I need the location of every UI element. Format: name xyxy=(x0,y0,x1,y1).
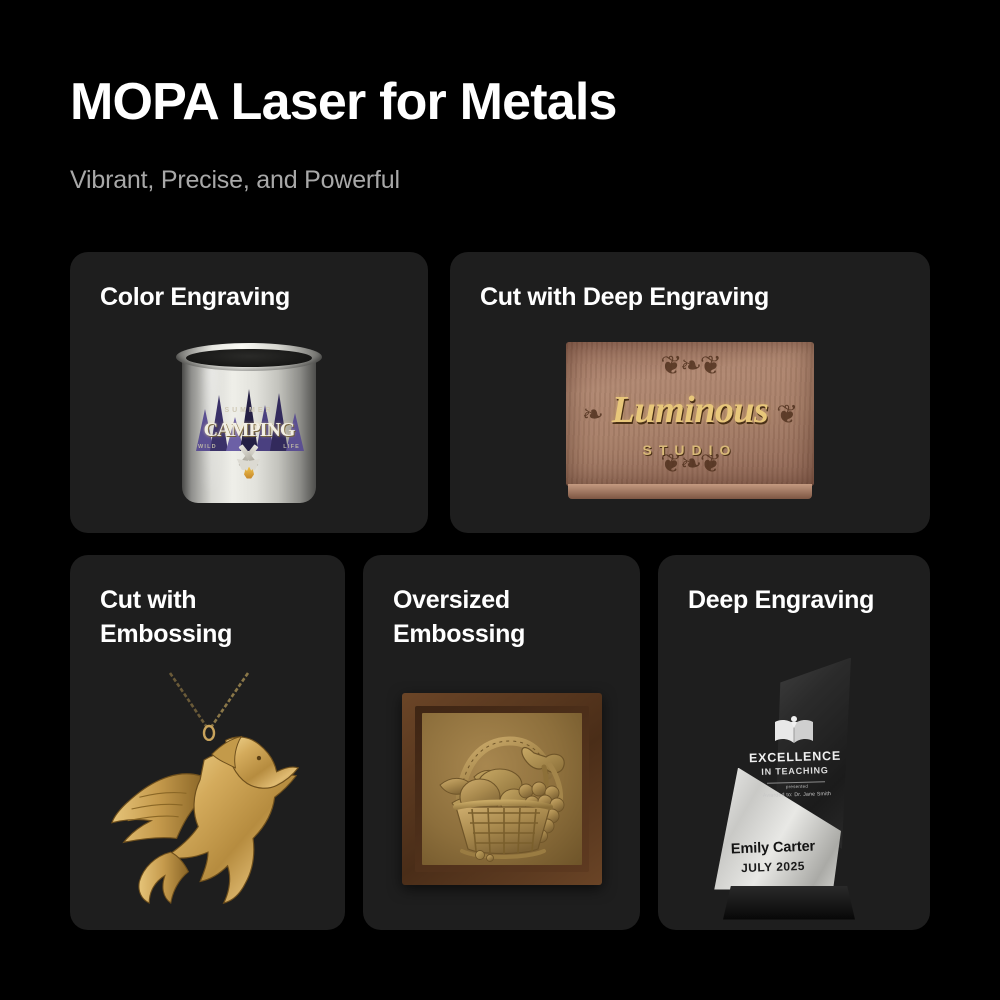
fruit-basket-icon xyxy=(422,713,582,865)
mug-graphic: SUMMER CAMPING WILD LIFE xyxy=(174,337,324,507)
plaque-label-luminous: Luminous xyxy=(574,388,806,432)
product-image-plaque: ❦❧❦ ❦❧❦ ❧ ❦ Luminous STUDIO xyxy=(450,310,930,533)
mug-engraving: SUMMER CAMPING WILD LIFE xyxy=(194,381,304,477)
product-image-pendant xyxy=(70,647,345,930)
wood-plaque-graphic: ❦❧❦ ❦❧❦ ❧ ❦ Luminous STUDIO xyxy=(566,342,814,502)
card-title: Cut with Deep Engraving xyxy=(480,280,769,314)
product-image-mug: SUMMER CAMPING WILD LIFE xyxy=(70,310,428,533)
winged-horse-icon xyxy=(108,711,308,907)
plaque-bevel-edge xyxy=(568,484,812,499)
card-cut-with-deep-engraving[interactable]: Cut with Deep Engraving ❦❧❦ ❦❧❦ ❧ ❦ Lumi… xyxy=(450,252,930,533)
trophy-line-excellence: EXCELLENCE xyxy=(727,748,863,766)
plaque-engraving: ❦❧❦ ❦❧❦ ❧ ❦ Luminous STUDIO xyxy=(574,350,806,478)
card-cut-with-embossing[interactable]: Cut with Embossing xyxy=(70,555,345,930)
mug-label-summer: SUMMER xyxy=(194,407,304,414)
card-oversized-embossing[interactable]: Oversized Embossing xyxy=(363,555,640,930)
card-color-engraving[interactable]: Color Engraving SUMMER CAMPI xyxy=(70,252,428,533)
crossed-axes-icon xyxy=(220,443,278,469)
plaque-face: ❦❧❦ ❦❧❦ ❧ ❦ Luminous STUDIO xyxy=(566,342,814,486)
carved-panel-graphic xyxy=(402,693,602,885)
card-title: Cut with Embossing xyxy=(100,583,232,651)
card-title: Oversized Embossing xyxy=(393,583,525,651)
card-title: Deep Engraving xyxy=(688,583,874,617)
open-book-icon xyxy=(773,716,815,746)
page-subtitle: Vibrant, Precise, and Powerful xyxy=(70,166,400,195)
trophy-base xyxy=(723,886,855,920)
card-deep-engraving[interactable]: Deep Engraving EXCELLENCE IN TEACHING pr… xyxy=(658,555,930,930)
mug-label-life: LIFE xyxy=(283,444,300,450)
poster-root: MOPA Laser for Metals Vibrant, Precise, … xyxy=(0,0,1000,1000)
carved-relief-panel xyxy=(422,713,582,865)
card-title: Color Engraving xyxy=(100,280,290,314)
mug-interior xyxy=(186,349,312,367)
product-image-trophy: EXCELLENCE IN TEACHING presented Awarded… xyxy=(658,647,930,930)
mug-label-wild: WILD xyxy=(198,444,217,450)
pegasus-pendant-graphic xyxy=(108,671,308,907)
mug-label-camping: CAMPING xyxy=(194,419,304,442)
award-trophy-graphic: EXCELLENCE IN TEACHING presented Awarded… xyxy=(701,658,887,920)
plaque-label-studio: STUDIO xyxy=(574,442,806,458)
page-title: MOPA Laser for Metals xyxy=(70,72,617,132)
product-image-carving xyxy=(363,647,640,930)
flourish-top-icon: ❦❧❦ xyxy=(574,352,806,378)
